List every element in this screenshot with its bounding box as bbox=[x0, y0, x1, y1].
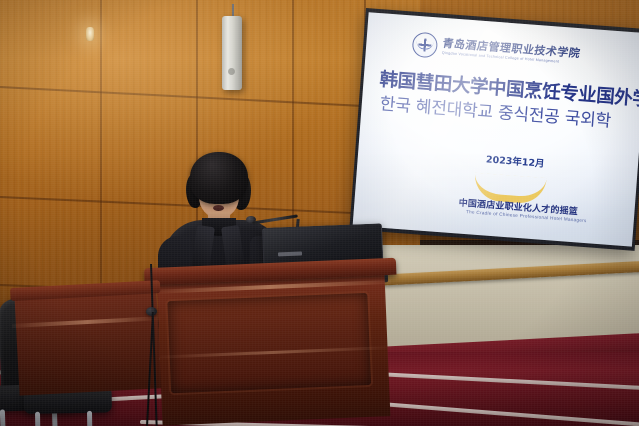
mouth bbox=[213, 205, 224, 211]
podium-side-body bbox=[15, 292, 162, 395]
chair-leg bbox=[35, 412, 40, 426]
chair-leg bbox=[87, 411, 92, 426]
college-emblem-icon bbox=[411, 32, 438, 59]
pa-speaker-icon bbox=[222, 16, 242, 90]
slide-institution-logo: 青岛酒店管理职业技术学院 Qingdao Vocational and Tech… bbox=[411, 32, 580, 70]
hair-top bbox=[190, 152, 248, 204]
podium-side-panel bbox=[10, 280, 166, 398]
podium-lectern bbox=[150, 258, 396, 426]
screen-frame: 青岛酒店管理职业技术学院 Qingdao Vocational and Tech… bbox=[349, 8, 639, 251]
screen-surface: 青岛酒店管理职业技术学院 Qingdao Vocational and Tech… bbox=[353, 12, 639, 246]
podium-front-panel bbox=[167, 293, 371, 393]
photo-scene: 青岛酒店管理职业技术学院 Qingdao Vocational and Tech… bbox=[0, 0, 639, 426]
slide-date: 2023年12月 bbox=[486, 151, 546, 169]
laptop-brand-logo-icon bbox=[278, 251, 302, 256]
wall-sconce-icon bbox=[86, 27, 94, 41]
projection-screen: 青岛酒店管理职业技术学院 Qingdao Vocational and Tech… bbox=[349, 8, 639, 251]
